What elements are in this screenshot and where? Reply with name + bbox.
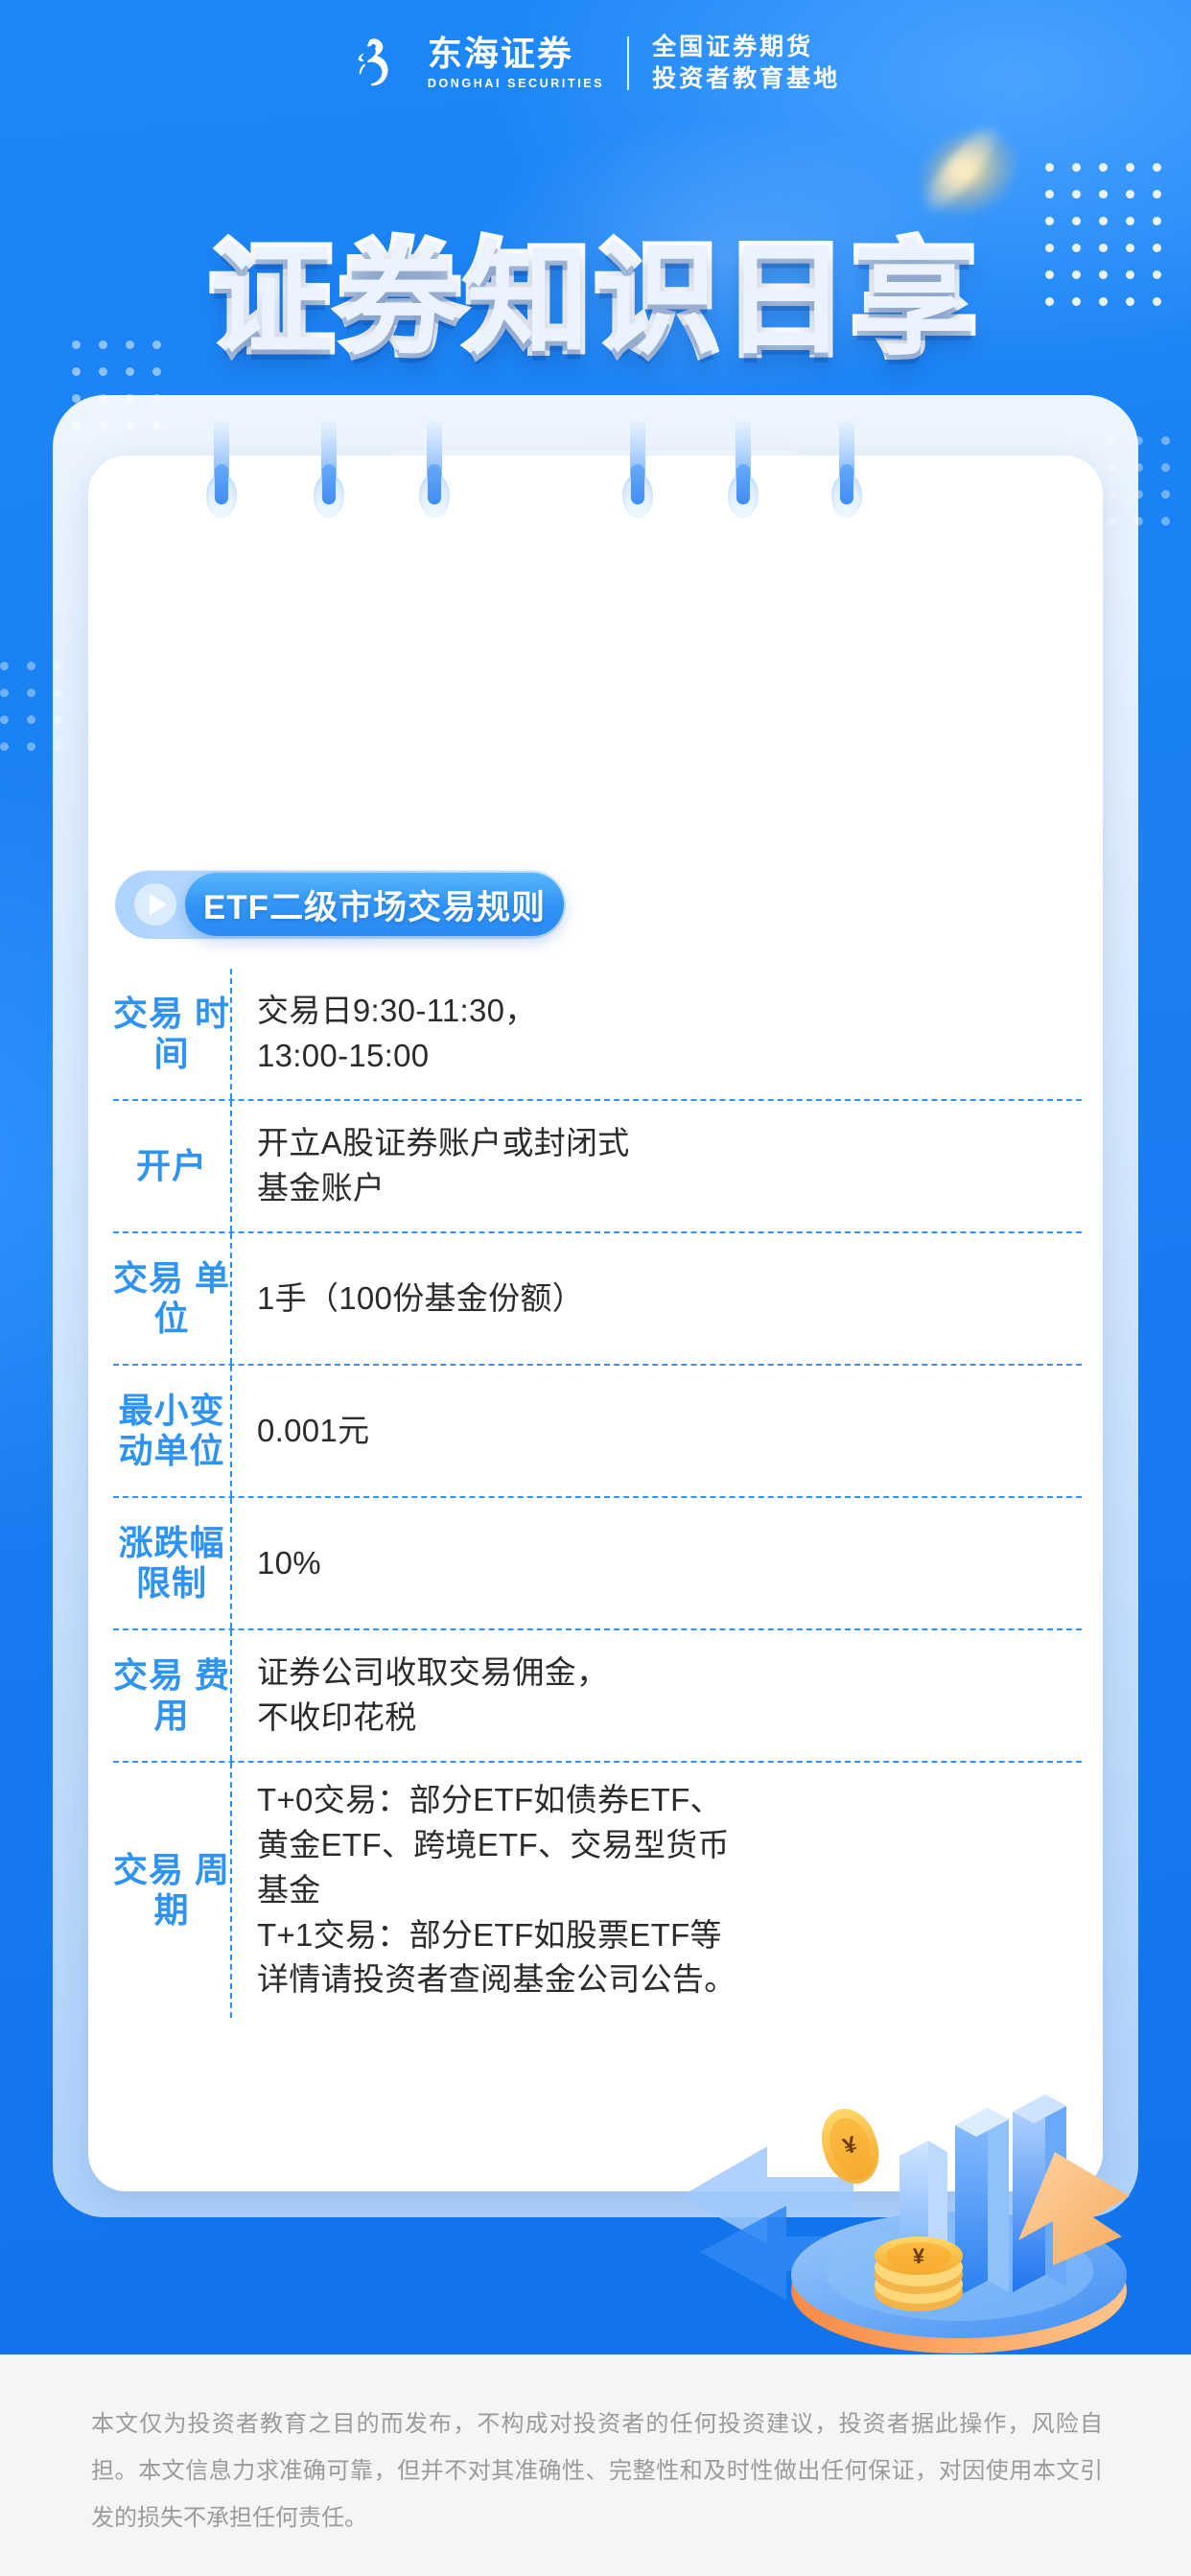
table-row: 交易 单位 1手（100份基金份额） <box>113 1233 1082 1366</box>
row-label: 交易 单位 <box>113 1233 230 1364</box>
row-label: 最小变 动单位 <box>113 1366 230 1496</box>
spiral-binding <box>88 414 1103 529</box>
poster-canvas: 东海证券 DONGHAI SECURITIES 全国证券期货 投资者教育基地 证… <box>0 0 1191 2576</box>
row-value: 10% <box>230 1498 1082 1628</box>
brand-name-cn: 东海证券 <box>428 36 604 71</box>
svg-text:¥: ¥ <box>913 2244 925 2268</box>
brand-name-en: DONGHAI SECURITIES <box>428 77 604 90</box>
badge-front: ETF二级市场交易规则 <box>185 873 564 936</box>
disclaimer-text: 本文仅为投资者教育之目的而发布，不构成对投资者的任何投资建议，投资者据此操作，风… <box>91 2400 1103 2542</box>
row-label: 交易 时间 <box>113 969 230 1099</box>
platform-inner <box>825 2221 1093 2321</box>
platform-top <box>791 2212 1127 2338</box>
table-row: 最小变 动单位 0.001元 <box>113 1366 1082 1498</box>
row-value: 1手（100份基金份额） <box>230 1233 1082 1364</box>
footer-disclaimer-area: 本文仅为投资者教育之目的而发布，不构成对投资者的任何投资建议，投资者据此操作，风… <box>0 2354 1191 2576</box>
row-label: 涨跌幅 限制 <box>113 1498 230 1628</box>
table-row: 涨跌幅 限制 10% <box>113 1498 1082 1630</box>
coin-stack-icon: ¥ <box>875 2236 963 2311</box>
brand-divider <box>627 36 629 90</box>
card-heading-badge: ETF二级市场交易规则 <box>115 870 566 939</box>
table-row: 交易 周期 T+0交易：部分ETF如债券ETF、 黄金ETF、跨境ETF、交易型… <box>113 1763 1082 2018</box>
rules-table: 交易 时间 交易日9:30-11:30， 13:00-15:00 开户 开立A股… <box>113 969 1082 2018</box>
table-row: 交易 费用 证券公司收取交易佣金， 不收印花税 <box>113 1630 1082 1763</box>
brand-header: 东海证券 DONGHAI SECURITIES 全国证券期货 投资者教育基地 <box>0 27 1191 100</box>
row-value: 开立A股证券账户或封闭式 基金账户 <box>230 1101 1082 1231</box>
table-row: 交易 时间 交易日9:30-11:30， 13:00-15:00 <box>113 969 1082 1101</box>
row-label: 交易 周期 <box>113 1763 230 2018</box>
row-value: 交易日9:30-11:30， 13:00-15:00 <box>230 969 1082 1099</box>
row-value: 证券公司收取交易佣金， 不收印花税 <box>230 1630 1082 1761</box>
row-label: 交易 费用 <box>113 1630 230 1761</box>
arrow-left-decoration-2 <box>700 2206 868 2300</box>
row-value: 0.001元 <box>230 1366 1082 1496</box>
table-row: 开户 开立A股证券账户或封闭式 基金账户 <box>113 1101 1082 1233</box>
card-heading-text: ETF二级市场交易规则 <box>203 880 546 929</box>
edu-base-line1: 全国证券期货 <box>652 32 840 63</box>
row-value: T+0交易：部分ETF如债券ETF、 黄金ETF、跨境ETF、交易型货币 基金 … <box>230 1763 1082 2018</box>
platform-ring <box>791 2227 1127 2354</box>
row-label: 开户 <box>113 1101 230 1231</box>
edu-base-line2: 投资者教育基地 <box>652 63 840 95</box>
play-triangle-icon <box>134 883 176 925</box>
seahorse-dragon-logo-icon <box>351 34 410 93</box>
page-title: 证券知识日享 <box>0 240 1191 363</box>
